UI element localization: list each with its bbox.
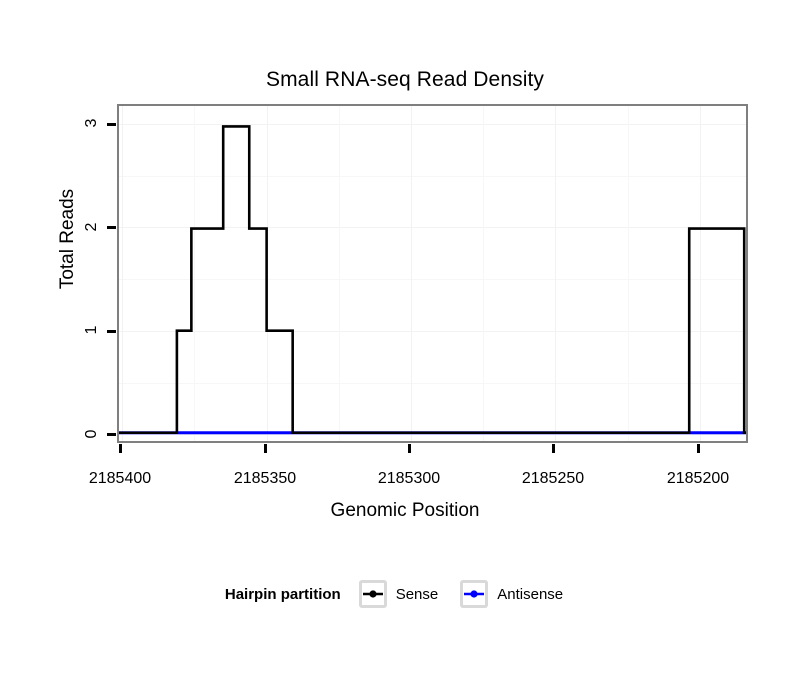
x-tick-label-2185300: 2185300 — [349, 470, 469, 488]
plot-panel — [117, 104, 748, 443]
y-tick-mark-2 — [107, 226, 116, 229]
x-tick-label-2185250: 2185250 — [493, 470, 613, 488]
legend-title: Hairpin partition — [225, 586, 341, 603]
y-tick-label-3: 3 — [83, 103, 101, 143]
x-axis-title: Genomic Position — [0, 500, 810, 522]
x-tick-label-2185400: 2185400 — [60, 470, 180, 488]
x-tick-label-2185200: 2185200 — [638, 470, 758, 488]
x-tick-mark-2185200 — [697, 444, 700, 453]
legend-key-sense — [359, 580, 387, 608]
legend: Hairpin partition Sense — [0, 580, 810, 608]
x-tick-mark-2185400 — [119, 444, 122, 453]
sense-line-point-icon — [362, 583, 384, 605]
y-tick-mark-1 — [107, 330, 116, 333]
legend-item-sense[interactable]: Sense — [359, 580, 439, 608]
x-tick-mark-2185350 — [264, 444, 267, 453]
legend-key-glyph-sense — [362, 583, 384, 605]
y-tick-mark-0 — [107, 433, 116, 436]
legend-label-antisense: Antisense — [497, 586, 563, 603]
legend-key-antisense — [460, 580, 488, 608]
x-tick-label-2185350: 2185350 — [205, 470, 325, 488]
y-tick-label-1: 1 — [83, 310, 101, 350]
series-plot-area — [119, 106, 748, 443]
series-sense — [119, 126, 748, 432]
legend-key-glyph-antisense — [463, 583, 485, 605]
y-axis-title: Total Reads — [57, 159, 79, 319]
chart-title: Small RNA-seq Read Density — [0, 68, 810, 92]
x-tick-mark-2185250 — [552, 444, 555, 453]
x-tick-mark-2185300 — [408, 444, 411, 453]
y-tick-label-0: 0 — [83, 414, 101, 454]
y-tick-mark-3 — [107, 123, 116, 126]
antisense-line-point-icon — [463, 583, 485, 605]
chart-root: Small RNA-seq Read Density Total Reads 3… — [0, 0, 810, 690]
legend-item-antisense[interactable]: Antisense — [460, 580, 563, 608]
y-tick-label-2: 2 — [83, 207, 101, 247]
legend-label-sense: Sense — [396, 586, 439, 603]
